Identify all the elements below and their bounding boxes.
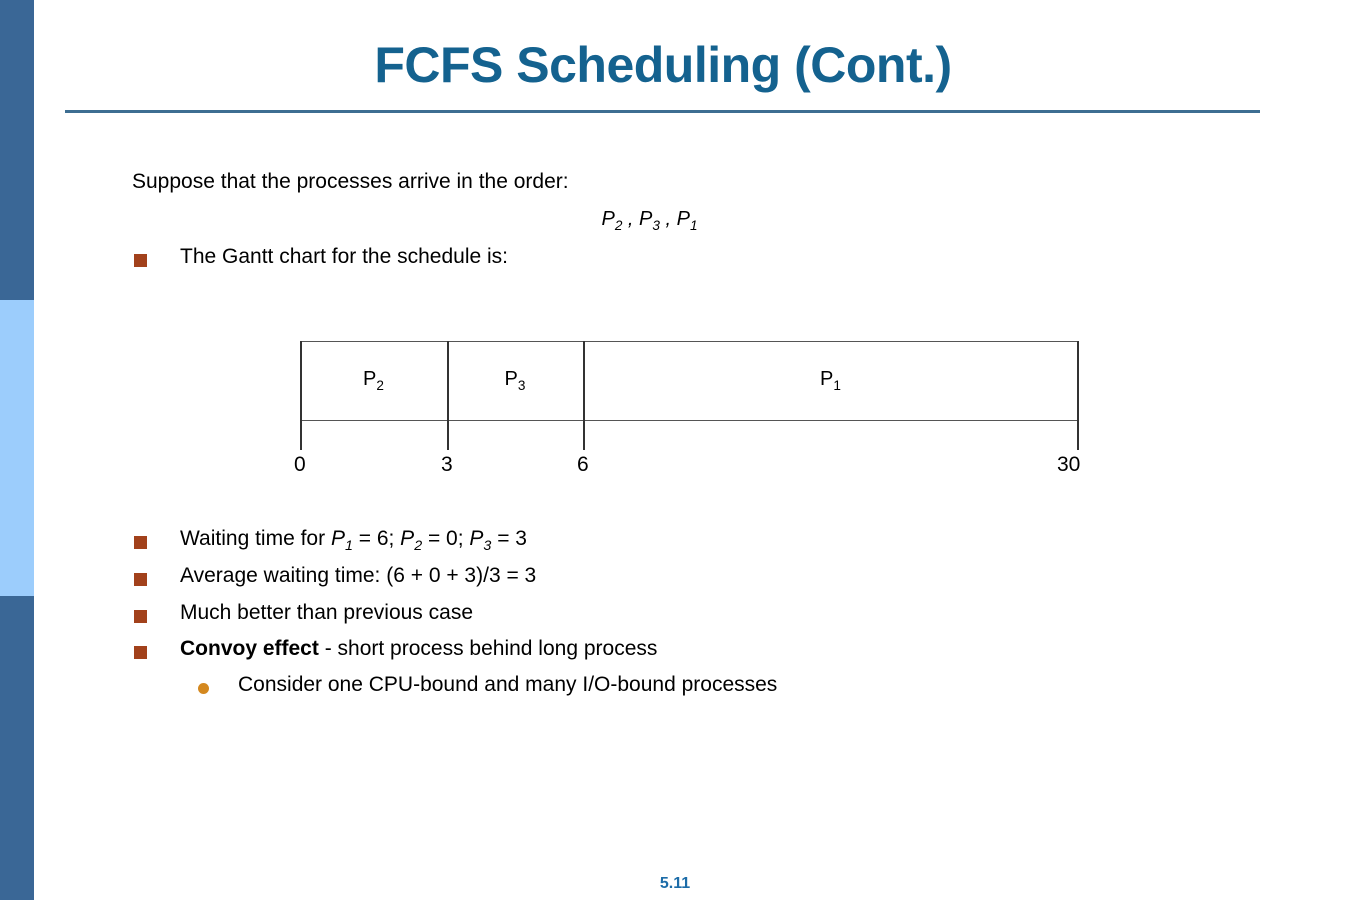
slide-title: FCFS Scheduling (Cont.) bbox=[66, 36, 1260, 94]
sidebar-segment-middle bbox=[0, 300, 34, 596]
gantt-tick-line-30 bbox=[1077, 341, 1079, 450]
gantt-segment-label-p1: P1 bbox=[583, 368, 1078, 393]
bullet-convoy-effect: Convoy effect - short process behind lon… bbox=[132, 637, 657, 661]
page-number: 5.11 bbox=[0, 875, 1350, 893]
bullet-average-waiting-time: Average waiting time: (6 + 0 + 3)/3 = 3 bbox=[132, 564, 536, 588]
sidebar-segment-top bbox=[0, 0, 34, 300]
subscript: 1 bbox=[833, 378, 841, 393]
bullet-dot-icon bbox=[198, 683, 209, 694]
sub-bullet-cpu-bound: Consider one CPU-bound and many I/O-boun… bbox=[196, 673, 777, 697]
bullet-much-better: Much better than previous case bbox=[132, 601, 473, 625]
bullet-square-icon bbox=[134, 573, 147, 586]
order-separator-2: , bbox=[660, 208, 677, 230]
gantt-tick-line-3 bbox=[447, 341, 449, 450]
bullet-square-icon bbox=[134, 646, 147, 659]
gantt-segment-label-p3: P3 bbox=[447, 368, 583, 393]
bullet-label: Waiting time for P1 = 6; P2 = 0; P3 = 3 bbox=[180, 527, 527, 554]
bullet-square-icon bbox=[134, 536, 147, 549]
intro-text: Suppose that the processes arrive in the… bbox=[132, 170, 569, 194]
process-order-line: P2 , P3 , P1 bbox=[132, 208, 1167, 233]
sidebar-segment-bottom bbox=[0, 596, 34, 900]
gantt-segment-label-p2: P2 bbox=[300, 368, 447, 393]
process-p2: P2 bbox=[400, 527, 422, 550]
process-order-p1: P1 bbox=[677, 208, 698, 230]
process-order-p2: P2 bbox=[601, 208, 622, 230]
process-p1: P1 bbox=[331, 527, 353, 550]
slide-canvas: FCFS Scheduling (Cont.) Suppose that the… bbox=[0, 0, 1350, 900]
bullet-label: Much better than previous case bbox=[180, 601, 473, 625]
subscript: 2 bbox=[414, 538, 422, 554]
bullet-label: Convoy effect - short process behind lon… bbox=[180, 637, 657, 661]
bullet-label: Average waiting time: (6 + 0 + 3)/3 = 3 bbox=[180, 564, 536, 588]
title-divider-rule bbox=[65, 110, 1260, 113]
convoy-effect-desc: - short process behind long process bbox=[319, 637, 658, 660]
gantt-tick-label-30: 30 bbox=[1057, 453, 1080, 477]
process-order-p3: P3 bbox=[639, 208, 660, 230]
subscript: 1 bbox=[345, 538, 353, 554]
bullet-gantt-intro: The Gantt chart for the schedule is: bbox=[132, 245, 508, 269]
subscript: 3 bbox=[652, 218, 660, 233]
gantt-tick-line-0 bbox=[300, 341, 302, 450]
bullet-waiting-time: Waiting time for P1 = 6; P2 = 0; P3 = 3 bbox=[132, 527, 527, 554]
sub-bullet-label: Consider one CPU-bound and many I/O-boun… bbox=[238, 673, 777, 697]
gantt-chart: P2 P3 P1 0 3 6 30 bbox=[300, 341, 1078, 421]
bullet-label: The Gantt chart for the schedule is: bbox=[180, 245, 508, 269]
subscript: 1 bbox=[690, 218, 698, 233]
gantt-tick-label-6: 6 bbox=[577, 453, 589, 477]
bullet-square-icon bbox=[134, 610, 147, 623]
left-sidebar bbox=[0, 0, 34, 900]
convoy-effect-term: Convoy effect bbox=[180, 637, 319, 660]
subscript: 3 bbox=[518, 378, 526, 393]
process-p3: P3 bbox=[469, 527, 491, 550]
subscript: 2 bbox=[376, 378, 384, 393]
bullet-square-icon bbox=[134, 254, 147, 267]
gantt-tick-label-3: 3 bbox=[441, 453, 453, 477]
order-separator-1: , bbox=[622, 208, 639, 230]
gantt-tick-line-6 bbox=[583, 341, 585, 450]
gantt-tick-label-0: 0 bbox=[294, 453, 306, 477]
